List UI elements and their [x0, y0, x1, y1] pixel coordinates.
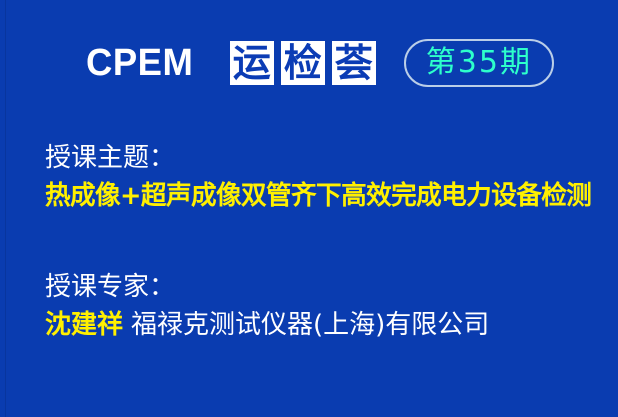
- webinar-poster: CPEM 运 检 荟 第35期 授课主题： 热成像+超声成像双管齐下高效完成电力…: [0, 0, 618, 417]
- expert-name: 沈建祥: [45, 310, 123, 340]
- expert-company: 福禄克测试仪器(上海)有限公司: [131, 310, 489, 340]
- yunjianhui-seal: 运 检 荟: [228, 39, 378, 87]
- seal-char-3: 荟: [330, 39, 378, 87]
- seal-char-1: 运: [228, 39, 276, 87]
- expert-label: 授课专家：: [45, 272, 605, 304]
- topic-label: 授课主题：: [45, 143, 605, 175]
- topic-value-row: 热成像+超声成像双管齐下高效完成电力设备检测: [45, 181, 605, 213]
- topic-value: 热成像+超声成像双管齐下高效完成电力设备检测: [45, 181, 591, 213]
- brand-header: CPEM 运 检 荟 第35期: [0, 34, 618, 92]
- issue-number-label: 第35期: [426, 48, 532, 78]
- issue-number-badge: 第35期: [404, 39, 554, 87]
- topic-block: 授课主题： 热成像+超声成像双管齐下高效完成电力设备检测: [45, 143, 605, 212]
- seal-char-2: 检: [279, 39, 327, 87]
- cpem-logo: CPEM: [86, 44, 193, 82]
- expert-block: 授课专家： 沈建祥福禄克测试仪器(上海)有限公司: [45, 272, 605, 341]
- expert-value-row: 沈建祥福禄克测试仪器(上海)有限公司: [45, 310, 605, 342]
